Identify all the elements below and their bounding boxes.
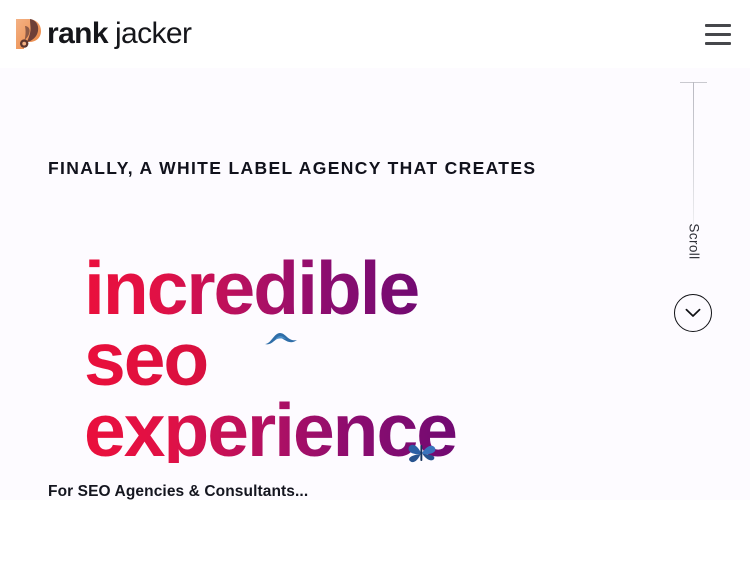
- hero-section: WE CREATE FINALLY, A WHITE LABEL AGENCY …: [0, 68, 750, 500]
- hamburger-bar-top: [705, 24, 731, 27]
- hero-headline: incredible seo experience: [84, 256, 456, 463]
- site-logo[interactable]: rankjacker: [12, 14, 191, 54]
- logo-wordmark: rankjacker: [47, 19, 191, 49]
- below-fold-spacer: [0, 500, 750, 563]
- page-root: rankjacker WE CREATE FINALLY, A WHITE LA…: [0, 0, 750, 563]
- logo-jacker-text: jacker: [115, 17, 191, 50]
- scroll-label: Scroll: [687, 217, 702, 267]
- logo-rank-text: rank: [47, 17, 108, 50]
- hero-subline-text: For SEO Agencies & Consultants...: [48, 483, 308, 501]
- site-header: rankjacker: [0, 0, 750, 68]
- hamburger-bar-middle: [705, 33, 731, 36]
- hero-headline-line-2: seo: [84, 327, 207, 392]
- scroll-down-button[interactable]: [674, 294, 712, 332]
- hamburger-bar-bottom: [705, 42, 731, 45]
- hamburger-menu-icon[interactable]: [700, 16, 736, 52]
- scroll-line: [693, 82, 694, 224]
- chevron-down-icon: [685, 308, 701, 318]
- hero-headline-line-1: incredible: [84, 256, 418, 321]
- scroll-indicator: Scroll: [674, 82, 714, 332]
- rank-jacker-mark-icon: [12, 15, 50, 53]
- hero-headline-line-3: experience: [84, 398, 456, 463]
- hero-eyebrow-text: FINALLY, A WHITE LABEL AGENCY THAT CREAT…: [48, 158, 536, 179]
